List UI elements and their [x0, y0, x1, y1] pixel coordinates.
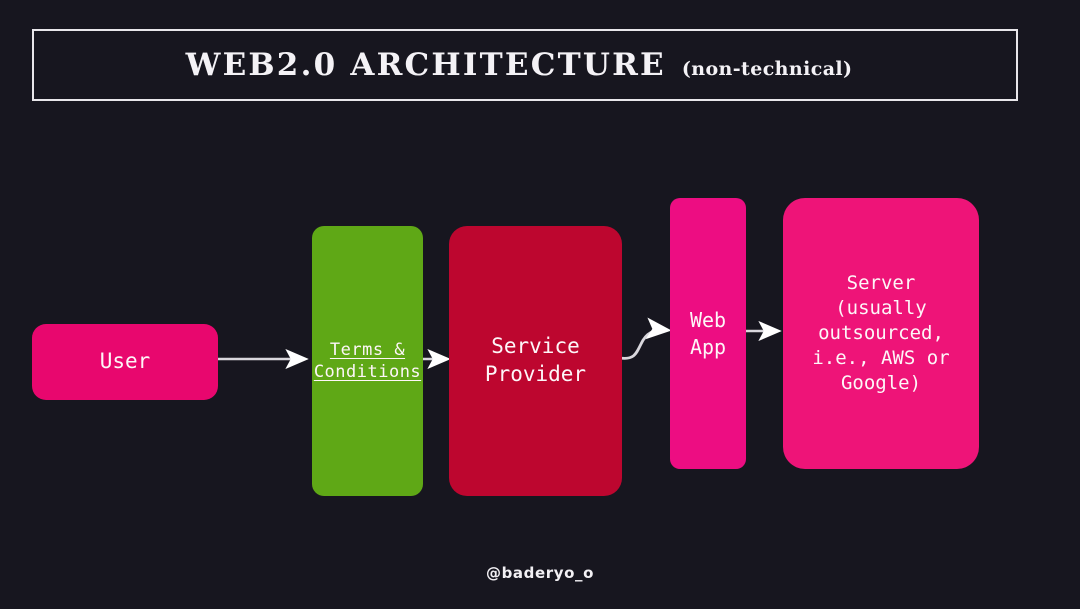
node-terms-label: Terms & Conditions: [314, 339, 421, 384]
node-service-provider[interactable]: Service Provider: [449, 226, 622, 496]
node-user-label: User: [100, 348, 151, 376]
page-title: WEB2.0 ARCHITECTURE: [186, 47, 666, 83]
arrow-user-to-terms: [216, 348, 316, 372]
node-web-app-label: Web App: [690, 307, 726, 360]
title-banner: WEB2.0 ARCHITECTURE (non-technical): [32, 29, 1018, 101]
author-handle: @baderyo_o: [0, 564, 1080, 582]
node-user[interactable]: User: [32, 324, 218, 400]
node-server-label: Server (usually outsourced, i.e., AWS or…: [812, 271, 949, 396]
slide-canvas: WEB2.0 ARCHITECTURE (non-technical): [0, 0, 1080, 609]
arrow-service-to-webapp: [618, 310, 678, 370]
node-server[interactable]: Server (usually outsourced, i.e., AWS or…: [783, 198, 979, 469]
node-web-app[interactable]: Web App: [670, 198, 746, 469]
title-text-group: WEB2.0 ARCHITECTURE (non-technical): [186, 47, 853, 83]
node-terms-and-conditions[interactable]: Terms & Conditions: [312, 226, 423, 496]
node-service-provider-label: Service Provider: [485, 333, 586, 388]
page-subtitle: (non-technical): [682, 58, 853, 80]
